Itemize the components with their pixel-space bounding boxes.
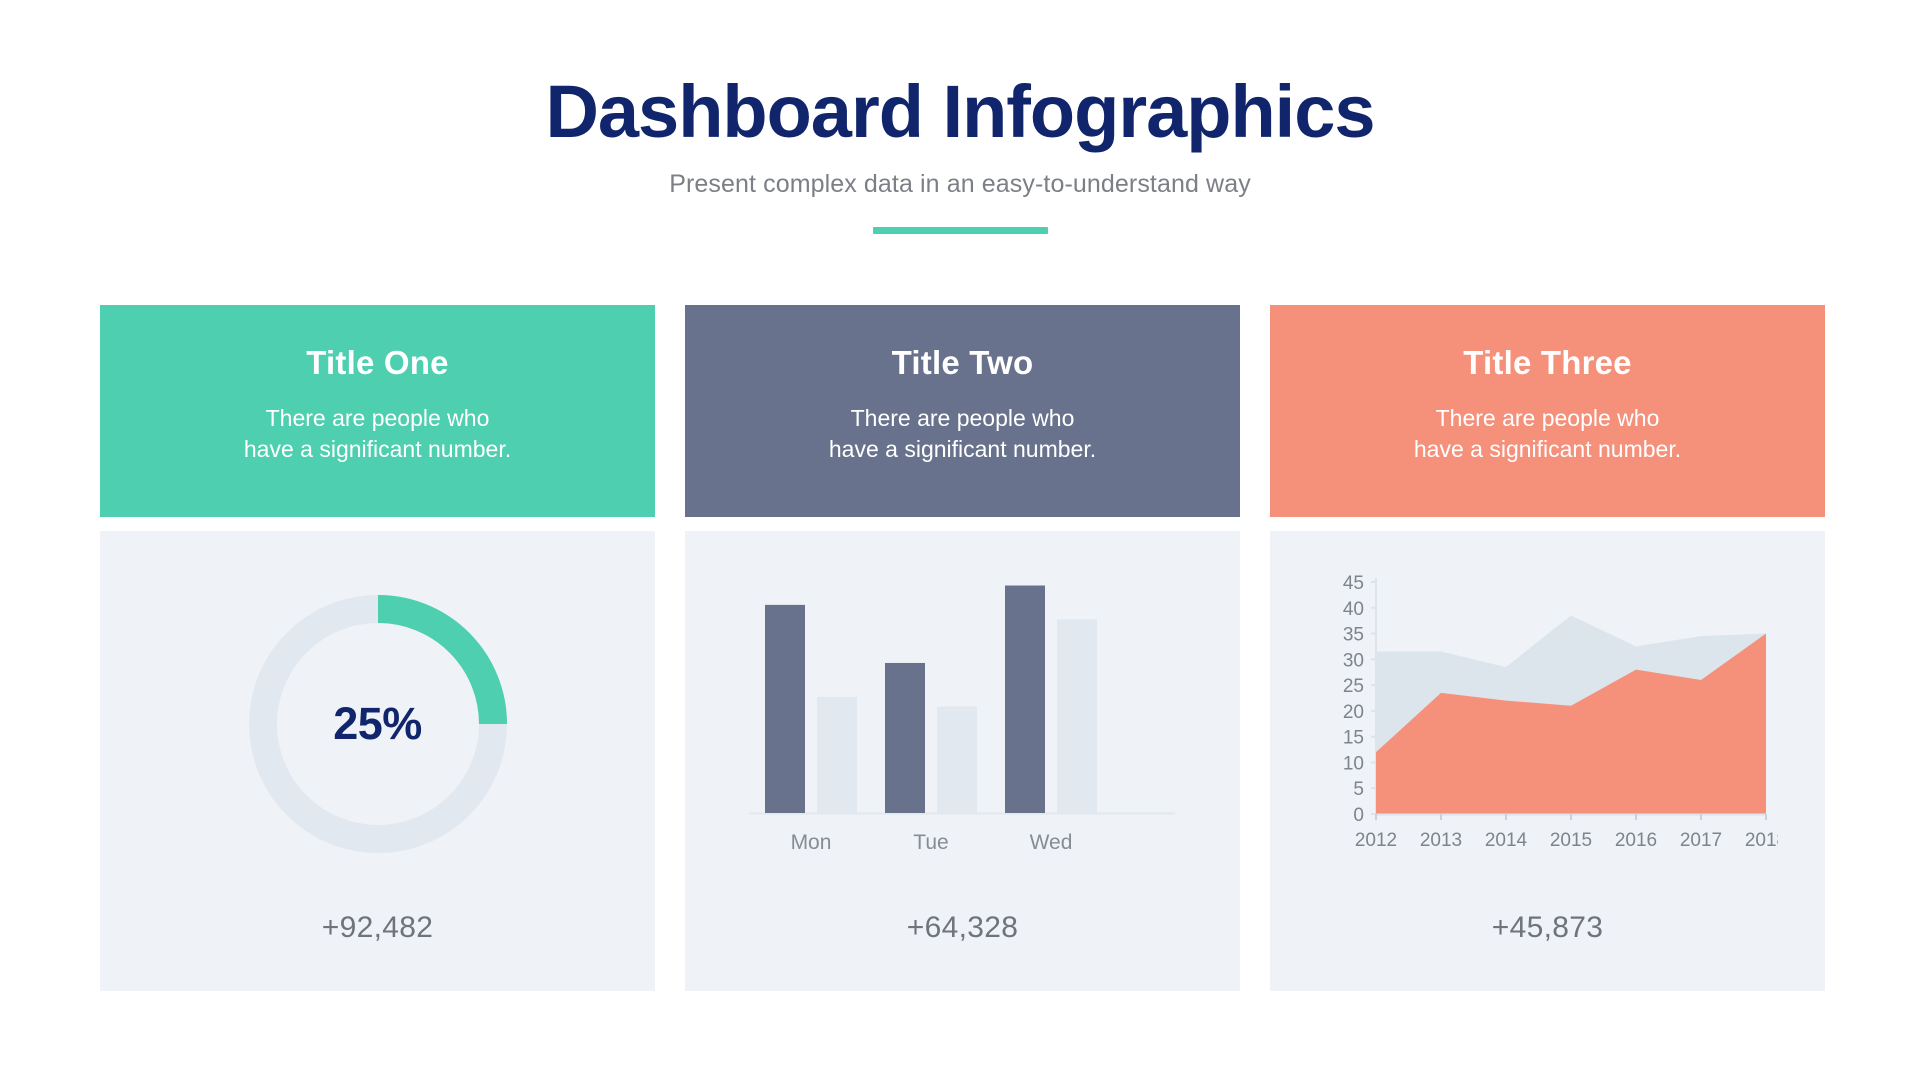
donut-chart[interactable]: 25% — [241, 587, 515, 861]
area-ytick-15: 15 — [1342, 728, 1363, 749]
card-one-header: Title One There are people who have a si… — [100, 305, 655, 517]
area-xtick-2018: 2018 — [1744, 830, 1777, 851]
area-chart-svg: 0510152025303540452012201320142015201620… — [1318, 564, 1778, 884]
area-xtick-2013: 2013 — [1419, 830, 1461, 851]
card-one-title: Title One — [124, 345, 631, 381]
area-ytick-20: 20 — [1342, 702, 1363, 723]
card-three-header: Title Three There are people who have a … — [1270, 305, 1825, 517]
card-two[interactable]: Title Two There are people who have a si… — [685, 305, 1240, 991]
card-two-body: MonTueWed +64,328 — [685, 531, 1240, 991]
area-ytick-5: 5 — [1353, 779, 1364, 800]
card-three-body: 0510152025303540452012201320142015201620… — [1270, 531, 1825, 991]
bar-wed-secondary — [1057, 619, 1097, 813]
donut-center-label: 25% — [241, 587, 515, 861]
bar-chart[interactable]: MonTueWed — [743, 561, 1183, 891]
bar-xtick-mon: Mon — [790, 831, 831, 854]
card-two-header: Title Two There are people who have a si… — [685, 305, 1240, 517]
area-ytick-30: 30 — [1342, 650, 1363, 671]
bar-chart-svg: MonTueWed — [743, 561, 1183, 891]
area-ytick-0: 0 — [1353, 805, 1364, 826]
card-one-footer-number: +92,482 — [322, 911, 433, 991]
page-subtitle: Present complex data in an easy-to-under… — [0, 170, 1920, 199]
card-one-visual: 25% — [100, 531, 655, 911]
card-three[interactable]: Title Three There are people who have a … — [1270, 305, 1825, 991]
area-xtick-2012: 2012 — [1354, 830, 1396, 851]
bar-wed-primary — [1005, 586, 1045, 813]
area-xtick-2014: 2014 — [1484, 830, 1527, 851]
card-three-footer-number: +45,873 — [1492, 911, 1603, 991]
card-one-body: 25% +92,482 — [100, 531, 655, 991]
cards-row: Title One There are people who have a si… — [100, 305, 1825, 991]
card-three-description: There are people who have a significant … — [1294, 403, 1801, 465]
area-ytick-45: 45 — [1342, 573, 1363, 594]
area-chart[interactable]: 0510152025303540452012201320142015201620… — [1318, 564, 1778, 884]
card-three-title: Title Three — [1294, 345, 1801, 381]
card-two-footer-number: +64,328 — [907, 911, 1018, 991]
card-two-title: Title Two — [709, 345, 1216, 381]
bar-tue-secondary — [937, 707, 977, 813]
card-two-visual: MonTueWed — [685, 531, 1240, 911]
card-one[interactable]: Title One There are people who have a si… — [100, 305, 655, 991]
card-two-description: There are people who have a significant … — [709, 403, 1216, 465]
bar-xtick-wed: Wed — [1029, 831, 1072, 854]
page-title: Dashboard Infographics — [0, 72, 1920, 152]
card-three-visual: 0510152025303540452012201320142015201620… — [1270, 531, 1825, 911]
area-ytick-25: 25 — [1342, 676, 1363, 697]
bar-mon-primary — [765, 605, 805, 813]
card-one-description: There are people who have a significant … — [124, 403, 631, 465]
area-ytick-10: 10 — [1342, 753, 1363, 774]
bar-tue-primary — [885, 663, 925, 813]
bar-mon-secondary — [817, 697, 857, 813]
area-xtick-2017: 2017 — [1679, 830, 1721, 851]
area-xtick-2016: 2016 — [1614, 830, 1656, 851]
area-ytick-40: 40 — [1342, 599, 1363, 620]
accent-divider — [873, 227, 1048, 234]
bar-xtick-tue: Tue — [913, 831, 948, 854]
area-ytick-35: 35 — [1342, 625, 1363, 646]
area-xtick-2015: 2015 — [1549, 830, 1591, 851]
slide-header: Dashboard Infographics Present complex d… — [0, 72, 1920, 234]
slide-root: Dashboard Infographics Present complex d… — [0, 0, 1920, 1080]
